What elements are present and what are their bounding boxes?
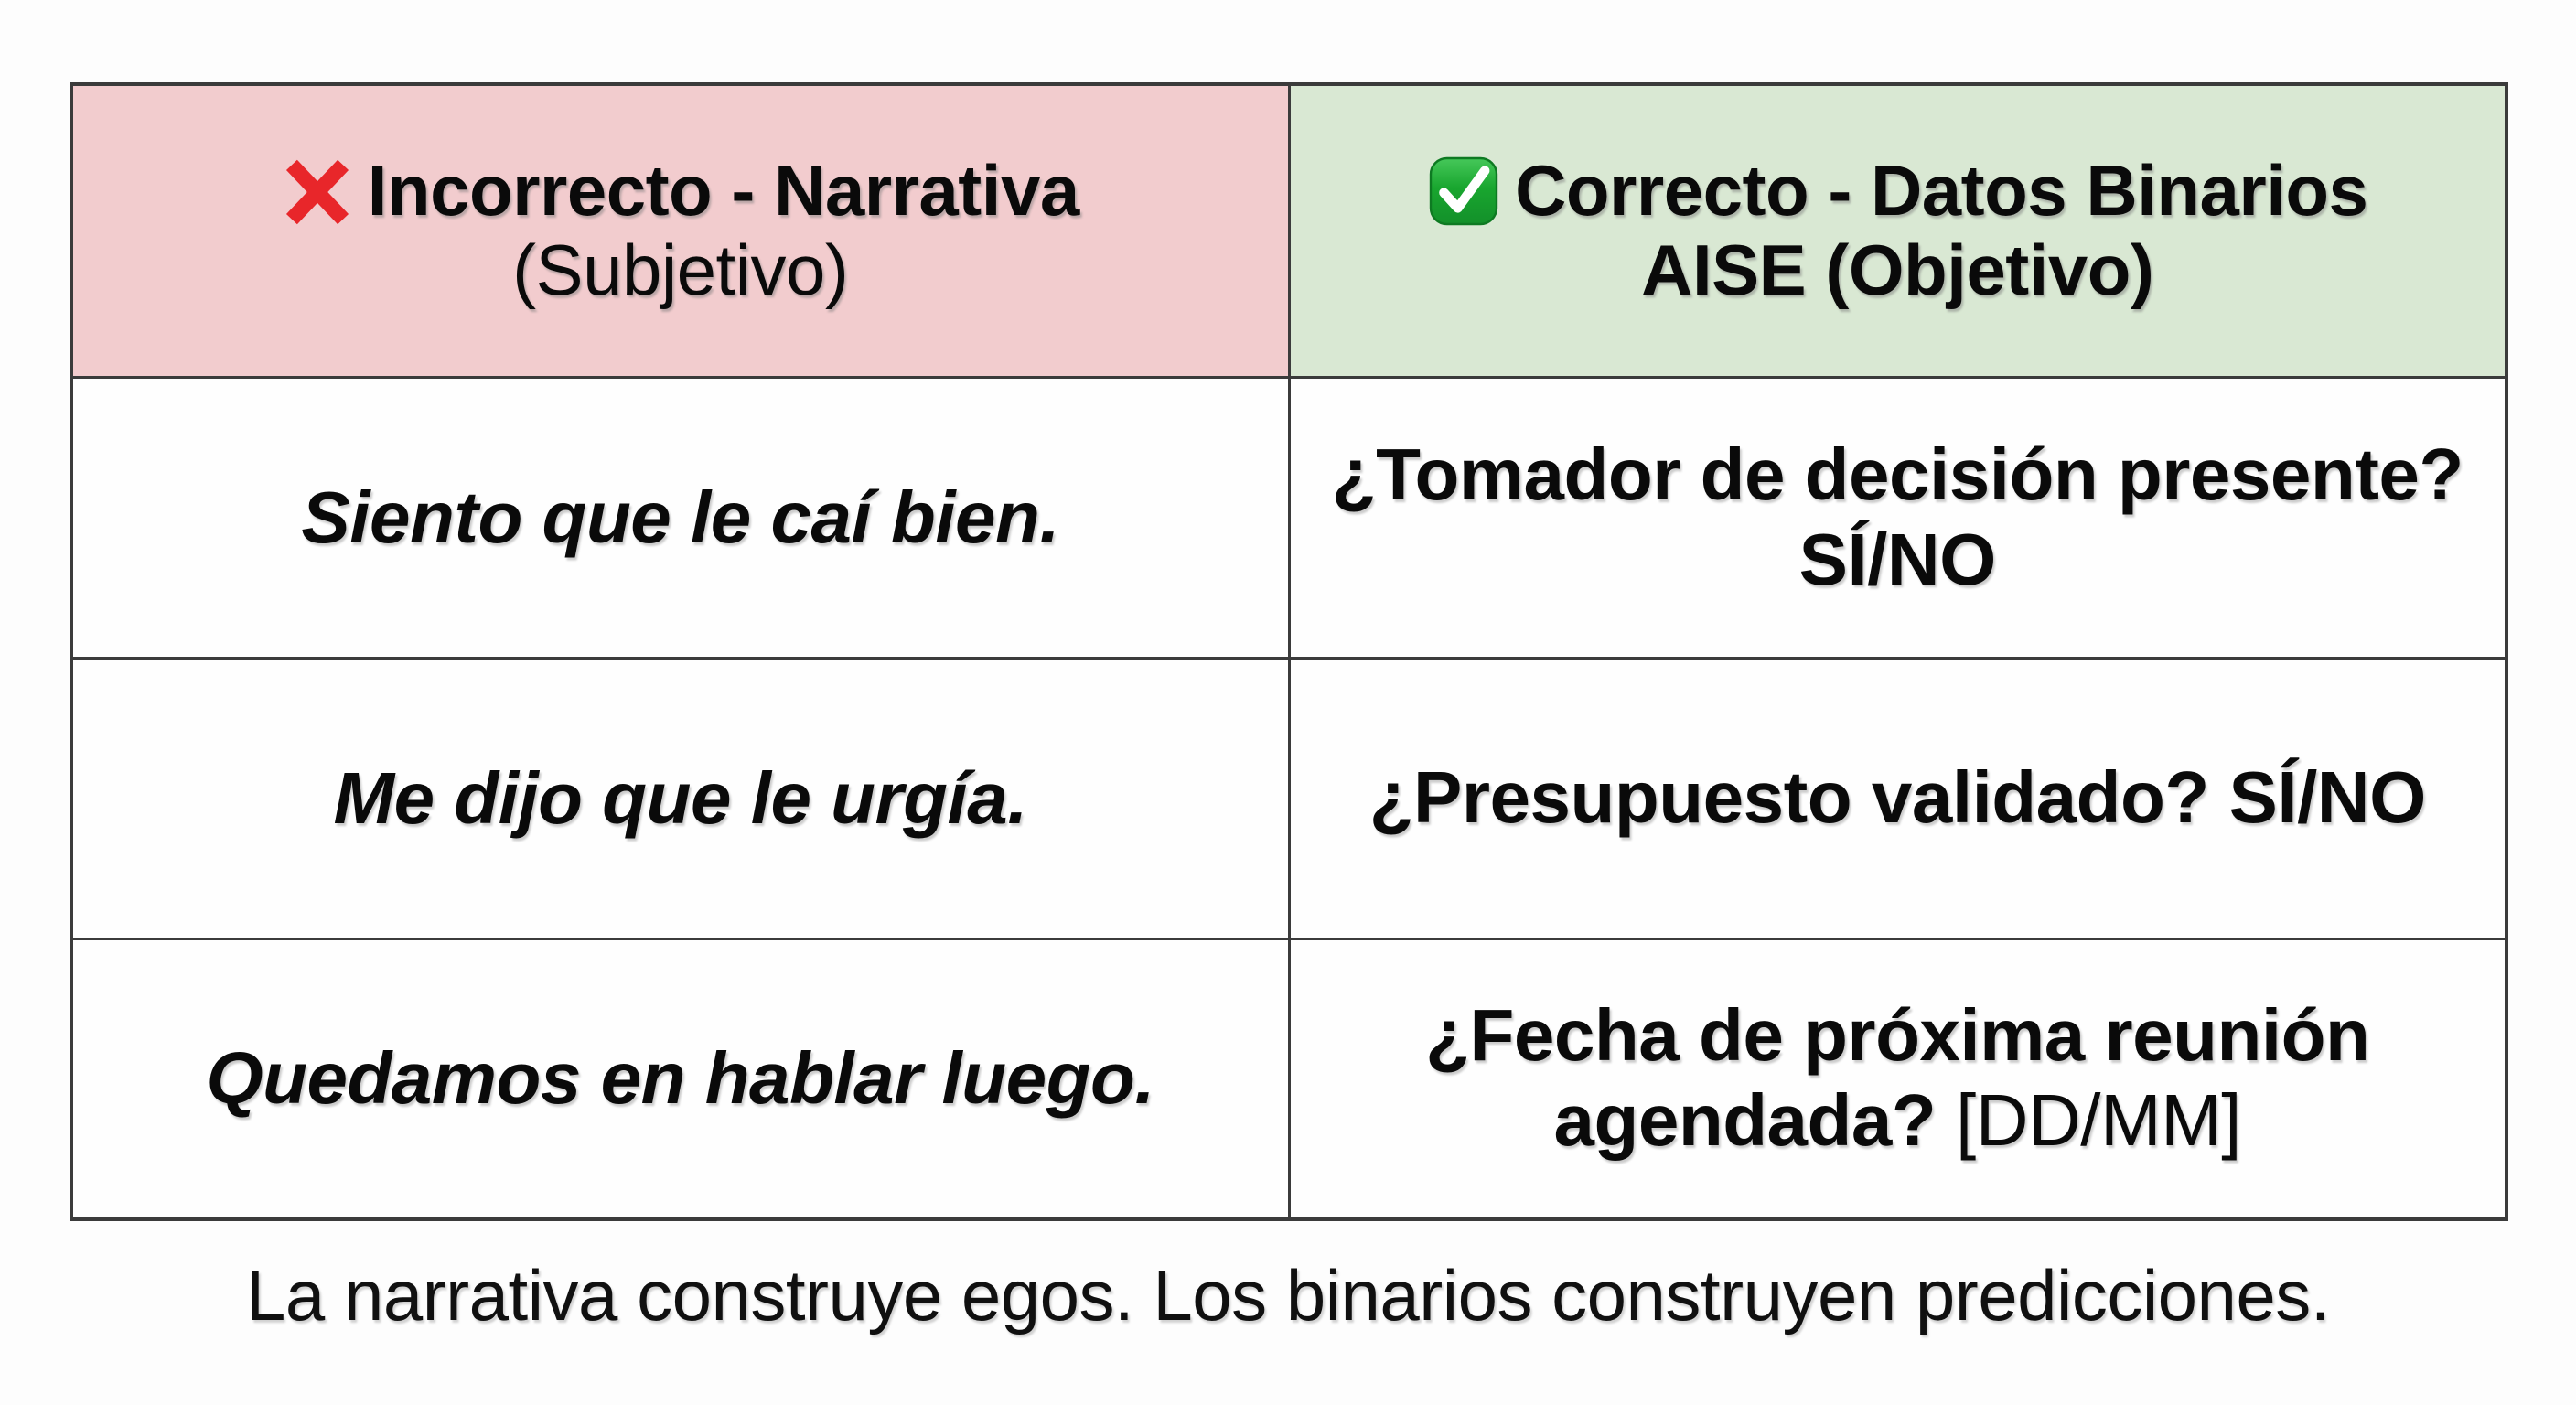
comparison-table: Incorrecto - Narrativa (Subjetivo) bbox=[70, 82, 2508, 1221]
header-cell-incorrecto: Incorrecto - Narrativa (Subjetivo) bbox=[71, 84, 1289, 377]
cell-narrativa-3: Quedamos en hablar luego. bbox=[71, 938, 1289, 1219]
binario-tail-3: [DD/MM] bbox=[1956, 1079, 2241, 1161]
header-label-correcto: Correcto - Datos Binarios bbox=[1515, 150, 2367, 231]
check-mark-button-icon bbox=[1427, 155, 1500, 228]
comparison-slide: Incorrecto - Narrativa (Subjetivo) bbox=[0, 0, 2576, 1405]
binario-text-1: ¿Tomador de decisión presente? SÍ/NO bbox=[1332, 434, 2463, 600]
cell-narrativa-2: Me dijo que le urgía. bbox=[71, 658, 1289, 938]
header-text-correcto: Correcto - Datos Binarios AISE (Objetivo… bbox=[1316, 151, 2480, 311]
table-row: Siento que le caí bien. ¿Tomador de deci… bbox=[71, 377, 2506, 658]
narrativa-text-2: Me dijo que le urgía. bbox=[334, 757, 1027, 839]
header-text-incorrecto: Incorrecto - Narrativa (Subjetivo) bbox=[99, 151, 1262, 311]
table-header-row: Incorrecto - Narrativa (Subjetivo) bbox=[71, 84, 2506, 377]
binario-main-1: ¿Tomador de decisión presente? SÍ/NO bbox=[1332, 434, 2463, 600]
binario-main-2: ¿Presupuesto validado? SÍ/NO bbox=[1369, 756, 2426, 838]
table-row: Me dijo que le urgía. ¿Presupuesto valid… bbox=[71, 658, 2506, 938]
binario-text-3: ¿Fecha de próxima reunión agendada? [DD/… bbox=[1425, 994, 2369, 1161]
cross-mark-icon bbox=[282, 156, 353, 228]
cell-binario-3: ¿Fecha de próxima reunión agendada? [DD/… bbox=[1289, 938, 2506, 1219]
cell-narrativa-1: Siento que le caí bien. bbox=[71, 377, 1289, 658]
header-cell-correcto: Correcto - Datos Binarios AISE (Objetivo… bbox=[1289, 84, 2506, 377]
cell-binario-1: ¿Tomador de decisión presente? SÍ/NO bbox=[1289, 377, 2506, 658]
narrativa-text-3: Quedamos en hablar luego. bbox=[206, 1037, 1154, 1119]
header-line1-correcto: Correcto - Datos Binarios bbox=[1316, 151, 2480, 231]
header-line1-incorrecto: Incorrecto - Narrativa bbox=[99, 151, 1262, 231]
header-label-incorrecto: Incorrecto - Narrativa bbox=[368, 150, 1079, 231]
cell-binario-2: ¿Presupuesto validado? SÍ/NO bbox=[1289, 658, 2506, 938]
narrativa-text-1: Siento que le caí bien. bbox=[301, 477, 1059, 558]
header-line2-correcto: AISE (Objetivo) bbox=[1316, 231, 2480, 310]
binario-text-2: ¿Presupuesto validado? SÍ/NO bbox=[1369, 756, 2426, 838]
table-row: Quedamos en hablar luego. ¿Fecha de próx… bbox=[71, 938, 2506, 1219]
footer-note: La narrativa construye egos. Los binario… bbox=[0, 1255, 2576, 1337]
header-line2-incorrecto: (Subjetivo) bbox=[99, 231, 1262, 310]
